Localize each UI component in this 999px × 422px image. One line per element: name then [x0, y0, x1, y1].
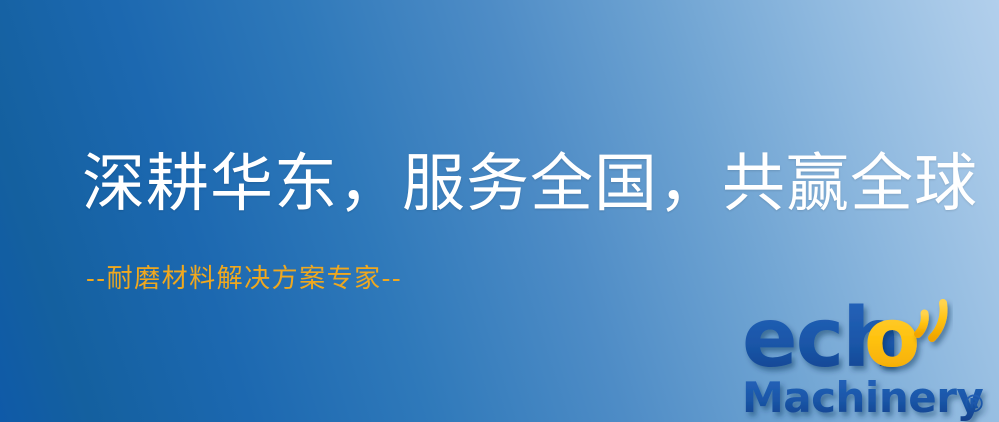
page-title: 深耕华东，服务全国，共赢全球	[82, 152, 978, 215]
logo-letter-o-accent: o	[864, 292, 920, 386]
svg-text:Machinery: Machinery	[742, 373, 983, 422]
svg-text:o: o	[864, 292, 920, 386]
logo-tagline: Machinery ®	[742, 373, 986, 422]
hero-banner: 深耕华东，服务全国，共赢全球 --耐磨材料解决方案专家--	[0, 0, 999, 422]
echo-machinery-logo: ech o Machinery ®	[738, 292, 999, 422]
page-subtitle: --耐磨材料解决方案专家--	[86, 266, 402, 292]
signal-waves-icon	[918, 303, 944, 338]
svg-text:®: ®	[962, 390, 986, 418]
